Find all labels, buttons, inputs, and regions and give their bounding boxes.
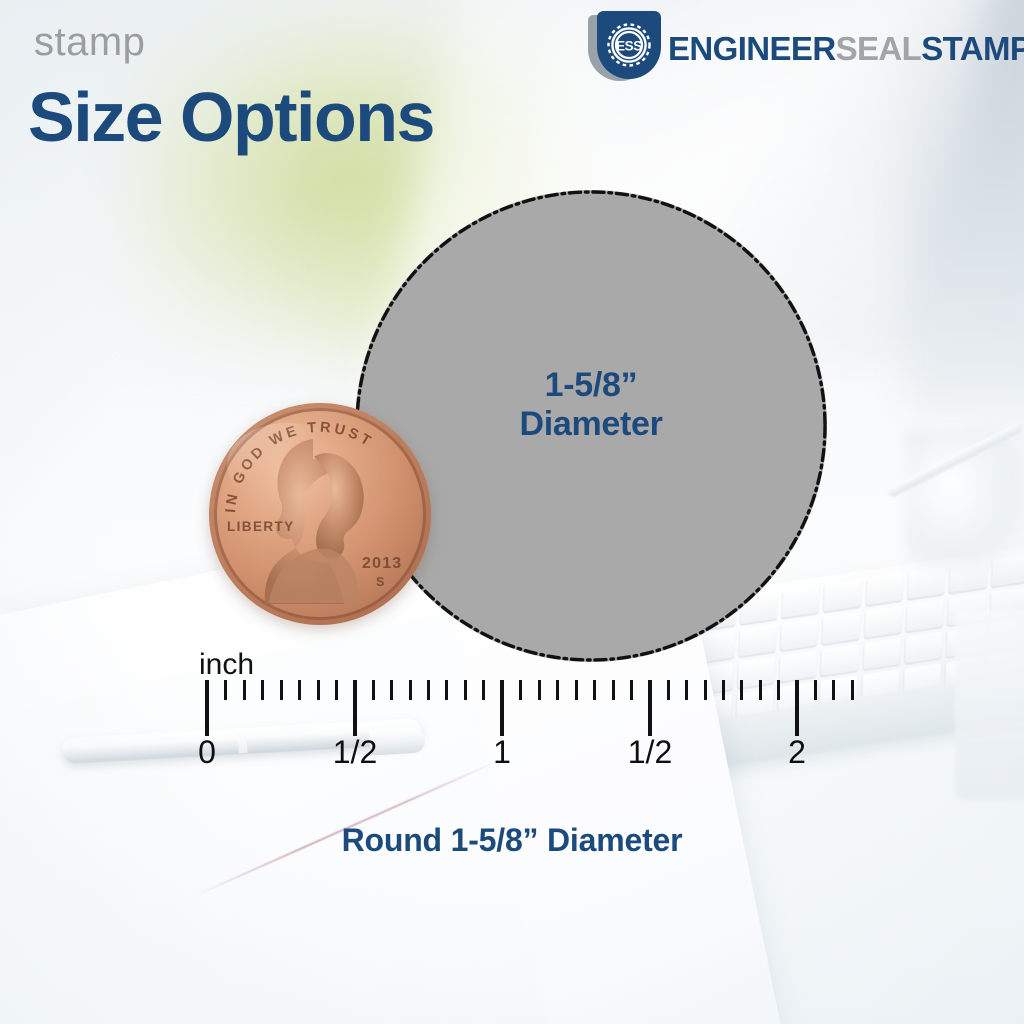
- ruler-tick-major: [353, 680, 357, 736]
- ruler-tick-minor: [243, 680, 246, 700]
- logo-word-stamps: STAMPS: [921, 32, 1024, 65]
- ruler-tick-minor: [280, 680, 283, 700]
- us-penny-2013: IN GOD WE TRUST LIBERTY 2013 S: [209, 403, 431, 625]
- ruler-label: 1/2: [333, 736, 377, 768]
- ruler-tick-minor: [372, 680, 375, 700]
- penny-liberty-text: LIBERTY: [227, 519, 295, 534]
- ruler-tick-minor: [851, 680, 854, 700]
- ruler-label: 1: [493, 736, 511, 768]
- product-size-graphic: stamp Size Options ESS ENGINEER SEAL STA…: [0, 0, 1024, 1024]
- ruler-tick-minor: [630, 680, 633, 700]
- ruler-tick-minor: [575, 680, 578, 700]
- ruler-tick-minor: [261, 680, 264, 700]
- ruler-unit-label: inch: [199, 650, 254, 680]
- eyebrow-label: stamp: [34, 22, 145, 62]
- ruler-tick-minor: [722, 680, 725, 700]
- logo-badge: ESS: [588, 11, 662, 85]
- ruler-tick-minor: [777, 680, 780, 700]
- ruler-tick-minor: [335, 680, 338, 700]
- ruler-label: 2: [788, 736, 806, 768]
- ruler-tick-minor: [667, 680, 670, 700]
- gear-seal-icon: ESS: [597, 11, 661, 79]
- ruler-tick-minor: [832, 680, 835, 700]
- ruler-tick-minor: [556, 680, 559, 700]
- ruler-tick-minor: [390, 680, 393, 700]
- svg-text:ESS: ESS: [616, 39, 642, 54]
- ruler-tick-minor: [593, 680, 596, 700]
- logo-word-seal: SEAL: [836, 32, 922, 65]
- ruler-tick-minor: [427, 680, 430, 700]
- product-caption: Round 1-5/8” Diameter: [0, 822, 1024, 859]
- ruler-tick-major: [205, 680, 209, 736]
- penny-mint-mark: S: [376, 575, 384, 589]
- logo-wordmark: ENGINEER SEAL STAMPS .COM: [668, 31, 1024, 65]
- ruler-tick-minor: [464, 680, 467, 700]
- brand-logo[interactable]: ESS ENGINEER SEAL STAMPS .COM: [588, 12, 1024, 84]
- ruler-tick-minor: [685, 680, 688, 700]
- ruler-tick-minor: [612, 680, 615, 700]
- ruler-tick-minor: [519, 680, 522, 700]
- ruler-tick-minor: [814, 680, 817, 700]
- ruler-tick-major: [795, 680, 799, 736]
- ruler-tick-minor: [704, 680, 707, 700]
- ruler-tick-major: [500, 680, 504, 736]
- ruler: inch 01/211/22: [0, 640, 1024, 820]
- ruler-tick-minor: [538, 680, 541, 700]
- ruler-label: 0: [198, 736, 216, 768]
- ruler-tick-minor: [317, 680, 320, 700]
- ruler-tick-minor: [298, 680, 301, 700]
- ruler-tick-minor: [759, 680, 762, 700]
- page-title: Size Options: [28, 82, 434, 152]
- ruler-tick-minor: [224, 680, 227, 700]
- ruler-label: 1/2: [628, 736, 672, 768]
- ruler-tick-major: [648, 680, 652, 736]
- ruler-tick-minor: [482, 680, 485, 700]
- penny-year-text: 2013: [362, 555, 402, 572]
- penny-engraving: IN GOD WE TRUST LIBERTY 2013 S: [209, 403, 431, 625]
- ruler-tick-minor: [740, 680, 743, 700]
- ruler-tick-minor: [409, 680, 412, 700]
- logo-word-engineer: ENGINEER: [668, 32, 836, 65]
- size-line-1: 1-5/8”: [355, 366, 827, 405]
- ruler-tick-minor: [445, 680, 448, 700]
